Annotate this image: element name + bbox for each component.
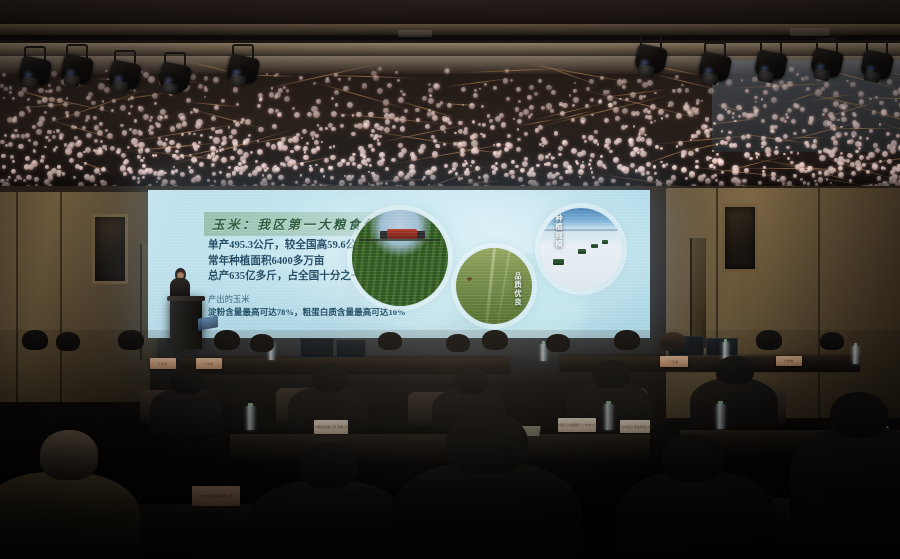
desk-monitor [300,338,334,358]
wall-art-frame [92,214,128,284]
name-card-text: 广州市嘉远 装备有限公司 [618,425,652,429]
table-name-card: 广东省 [660,356,688,367]
wall-art-frame [722,204,758,272]
table-name-card: 广州市 [776,356,802,366]
screen-scanlines [148,190,650,338]
ceiling-vent [790,28,830,36]
audience-table [230,434,650,460]
audience-torso [0,472,140,559]
audience-head [482,330,508,350]
name-card-text: 中国农业发展银行 广州市分行 [557,423,597,427]
name-card-text: 广东省 [669,360,678,364]
name-card-text: 广州市 [784,359,793,363]
table-name-card: 广东省 [150,358,176,369]
name-card-text: 广州市嘉远 装备有限公司 [199,494,233,498]
audience-head [56,332,80,351]
table-name-card: 广州市嘉远 装备有限公司 [192,486,240,506]
ceiling-region [0,0,900,196]
desk-monitor [336,340,366,358]
audience-head [662,434,724,482]
table-name-card: 广州市 [196,358,222,369]
audience-head [716,356,754,384]
stage-spotlight [862,40,892,84]
audience-torso [616,470,776,559]
audience-head [170,368,204,394]
name-card-text: 广东省 [158,362,167,366]
audience-head [446,412,528,474]
stage-spotlight [756,40,786,84]
name-card-text: 广州市 [204,362,213,366]
table-name-card: 中国农业发展银行 广州市分行 [558,418,596,432]
stage-spotlight [160,52,190,96]
audience-head [820,332,844,350]
table-name-card: 广州市嘉远 装备有限公司 [620,420,650,433]
audience-torso [790,426,900,526]
audience-head [446,334,470,352]
name-card-text: 广州粮食集团公司 营销公司 [312,425,349,429]
audience-head [40,430,98,480]
ceiling-vent [398,30,432,37]
audience-torso [150,388,222,434]
table-name-card: 广州粮食集团公司 营销公司 [314,420,348,434]
stage-spotlight [636,34,666,78]
audience-head [214,330,240,350]
audience-head [454,368,488,394]
audience-head [830,392,888,438]
ceiling-beam [0,24,900,35]
audience-torso [248,480,406,559]
audience-head [250,334,274,352]
audience-head [378,332,402,350]
slide-canvas: 玉米：我区第一大粮食作物 单产495.3公斤，较全国高59.6公斤 常年种植面积… [148,190,650,338]
stage-spotlight [812,38,842,82]
audience-head [614,330,640,350]
audience-head [546,334,570,352]
audience-head [312,364,348,392]
stage-spotlight [20,46,50,90]
water-bottle [716,404,725,429]
stage-spotlight [62,44,92,88]
audience-head [300,442,358,488]
projection-screen[interactable]: 玉米：我区第一大粮食作物 单产495.3公斤，较全国高59.6公斤 常年种植面积… [148,190,650,338]
water-bottle [852,346,859,364]
stage-spotlight [110,50,140,94]
stage-spotlight [700,42,730,86]
stage-spotlight [228,44,258,88]
audience-head [756,330,782,350]
audience-torso [690,378,778,432]
audience-area: 广东省 广州市 广东省 广州市 [0,330,900,559]
audience-head [118,330,144,350]
water-bottle [246,406,255,430]
audience-head [592,360,630,388]
audience-head [22,330,48,350]
water-bottle [604,404,613,430]
audience-torso [392,462,582,559]
conference-hall-photo: 玉米：我区第一大粮食作物 单产495.3公斤，较全国高59.6公斤 常年种植面积… [0,0,900,559]
audience-head [660,332,686,351]
